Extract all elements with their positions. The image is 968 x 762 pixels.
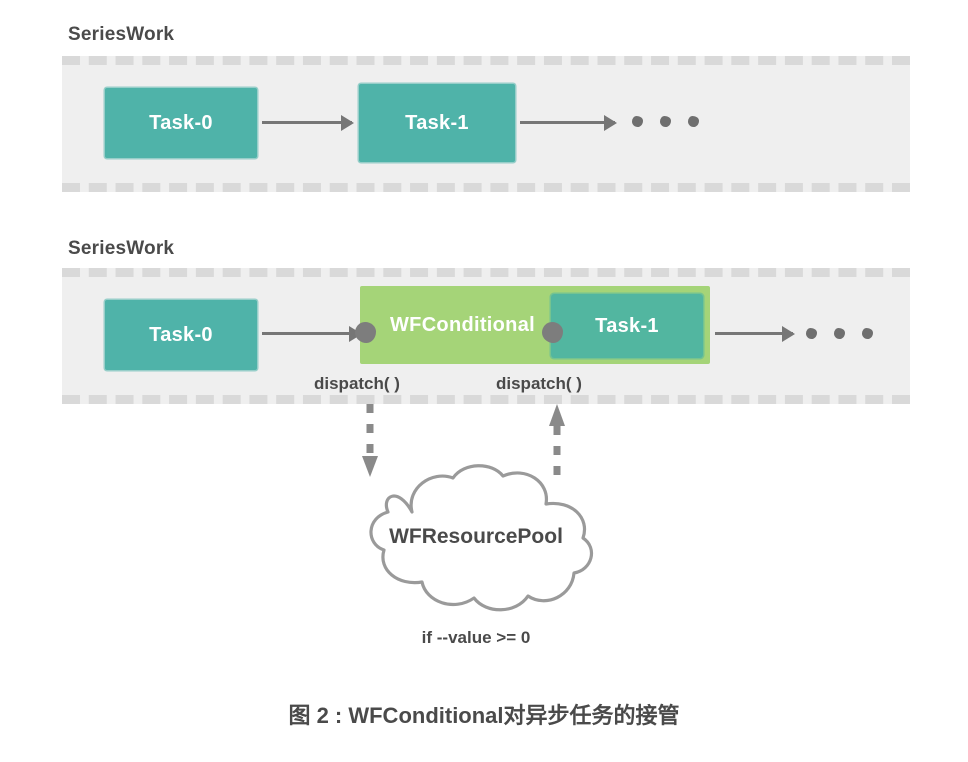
task-box-task-0-row2[interactable]: Task-0 [105,300,257,370]
arrow-task0-to-conditional-row2 [262,332,360,335]
dispatch-node-left[interactable] [355,322,376,343]
ellipsis-dot [834,328,845,339]
dispatch-label-right: dispatch( ) [496,374,582,394]
pool-condition-label: if --value >= 0 [340,628,612,648]
figure-caption: 图 2 : WFConditional对异步任务的接管 [0,698,968,730]
wfconditional-label: WFConditional [390,314,535,337]
series-work-label-row1: SeriesWork [68,24,174,46]
figure-canvas: SeriesWork Task-0 Task-1 SeriesWork Task… [0,0,968,762]
ellipsis-dot [632,116,643,127]
arrow-conditional-to-more-row2 [715,332,793,335]
task-box-task-0-row1[interactable]: Task-0 [105,88,257,158]
ellipsis-dots-row1 [632,116,699,127]
dispatch-label-left: dispatch( ) [314,374,400,394]
ellipsis-dot [806,328,817,339]
task-box-task-1-row1[interactable]: Task-1 [359,84,515,162]
arrow-task1-to-more-row1 [520,121,615,124]
task-box-task-1-row2[interactable]: Task-1 [551,294,703,358]
ellipsis-dots-row2 [806,328,873,339]
series-work-label-row2: SeriesWork [68,238,174,260]
ellipsis-dot [688,116,699,127]
ellipsis-dot [660,116,671,127]
ellipsis-dot [862,328,873,339]
wfresourcepool-label: WFResourcePool [340,525,612,549]
dispatch-node-right[interactable] [542,322,563,343]
arrow-task0-to-task1-row1 [262,121,352,124]
wfresourcepool-cloud[interactable]: WFResourcePool [340,460,612,615]
